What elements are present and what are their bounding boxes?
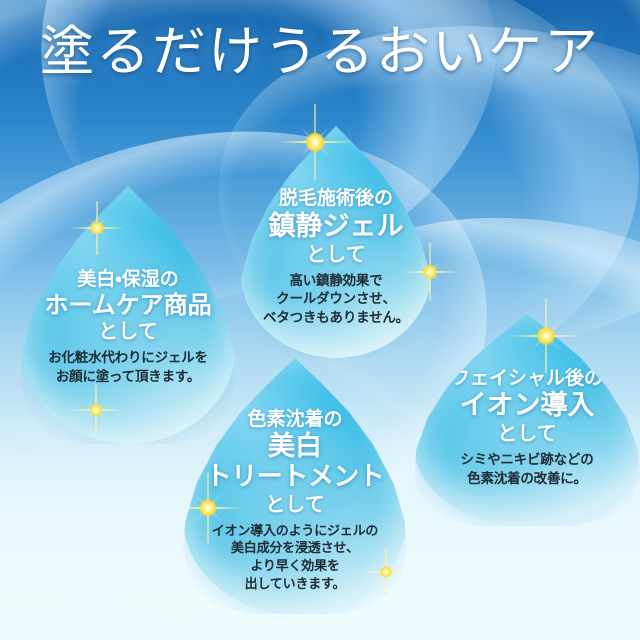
- promo-banner: 塗るだけうるおいケア 美白・保湿の ホームケア商品 として お化粧水代わりにジェ…: [0, 0, 640, 640]
- droplet-home-care: 美白・保湿の ホームケア商品 として お化粧水代わりにジェルを お顔に塗って頂き…: [20, 186, 236, 444]
- body-line: 美白成分を浸透させ、: [212, 539, 378, 557]
- droplet-whitening-hero-2: トリートメント: [206, 462, 385, 492]
- body-line: より早く効果を: [212, 557, 378, 575]
- page-title: 塗るだけうるおいケア: [0, 22, 640, 82]
- droplet-whitening-suffix: として: [265, 493, 324, 517]
- droplet-home-care-body: お化粧水代わりにジェルを お顔に塗って頂きます。: [48, 349, 208, 386]
- droplet-ion-introduction: フェイシャル後の イオン導入 として シミやニキビ跡などの 色素沈着の改善に。: [414, 314, 640, 526]
- droplet-calming-gel: 脱毛施術後の 鎮静ジェル として 高い鎮静効果で クールダウンさせ、 ベタつきも…: [240, 126, 432, 358]
- body-line: シミやニキビ跡などの: [461, 451, 594, 470]
- body-line: イオン導入のようにジェルの: [212, 522, 378, 540]
- body-line: ベタつきもありません。: [263, 309, 409, 328]
- droplet-whitening-hero: 美白: [268, 431, 322, 462]
- droplet-ion-body: シミやニキビ跡などの 色素沈着の改善に。: [461, 451, 594, 488]
- droplet-whitening-lead: 色素沈着の: [247, 409, 342, 431]
- droplet-calming-gel-body: 高い鎮静効果で クールダウンさせ、 ベタつきもありません。: [263, 272, 409, 328]
- droplet-calming-gel-hero: 鎮静ジェル: [269, 211, 404, 242]
- droplet-home-care-hero: ホームケア商品: [44, 292, 211, 319]
- droplet-ion-hero: イオン導入: [460, 390, 595, 421]
- droplet-ion-suffix: として: [497, 422, 556, 446]
- body-line: クールダウンさせ、: [263, 290, 409, 309]
- droplet-calming-gel-lead: 脱毛施術後の: [279, 188, 393, 210]
- body-line: 高い鎮静効果で: [263, 272, 409, 291]
- body-line: 色素沈着の改善に。: [461, 470, 594, 489]
- droplet-home-care-suffix: として: [98, 320, 157, 344]
- body-line: 出していきます。: [212, 575, 378, 593]
- droplet-calming-gel-suffix: として: [306, 243, 365, 267]
- droplet-home-care-lead: 美白・保湿の: [77, 269, 178, 291]
- droplet-whitening-body: イオン導入のようにジェルの 美白成分を浸透させ、 より早く効果を 出していきます…: [212, 522, 378, 594]
- body-line: お化粧水代わりにジェルを: [48, 349, 208, 368]
- body-line: お顔に塗って頂きます。: [48, 368, 208, 387]
- droplet-ion-lead: フェイシャル後の: [451, 368, 603, 390]
